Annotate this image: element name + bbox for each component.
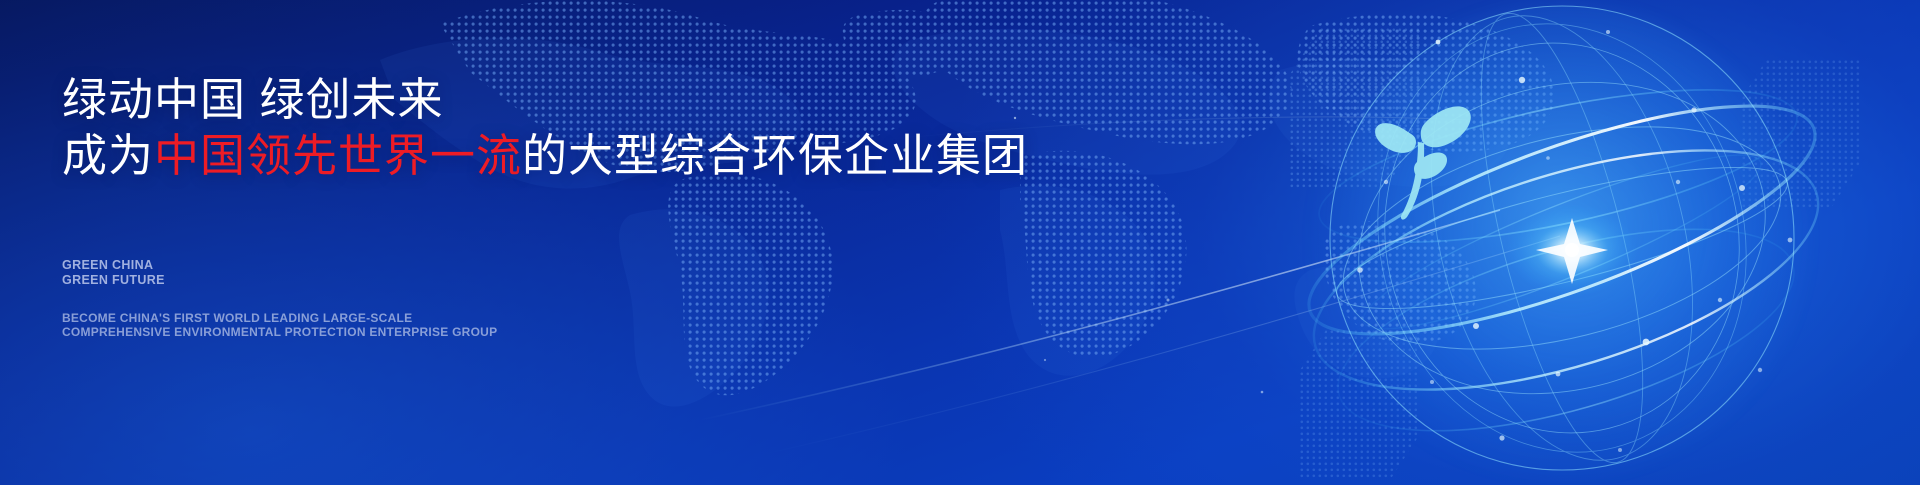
hex-dot-panel-top [1290,28,1420,188]
subtitle-line-2: COMPREHENSIVE ENVIRONMENTAL PROTECTION E… [62,325,497,339]
headline-accent-text: 中国领先世界一流 [154,130,522,181]
tagline-line-1: GREEN CHINA [62,258,165,273]
headline-line-2-pre: 成为 [62,130,154,181]
globe-glow [1310,0,1810,480]
subtitle-line-1: BECOME CHINA'S FIRST WORLD LEADING LARGE… [62,311,497,325]
tagline-en: GREEN CHINA GREEN FUTURE [62,258,165,288]
hex-dot-panel-right [1742,60,1862,210]
sprout-leaf-icon [1375,106,1471,219]
wireframe-globe [1290,0,1850,485]
world-map-silhouette [300,0,1550,470]
hex-dot-panel-bottom [1300,330,1420,480]
headline-line-2-post: 的大型综合环保企业集团 [522,130,1028,181]
headline-block: 绿动中国 绿创未来 成为中国领先世界一流的大型综合环保企业集团 [62,72,1062,184]
subtitle-en: BECOME CHINA'S FIRST WORLD LEADING LARGE… [62,311,497,339]
hero-banner: 绿动中国 绿创未来 成为中国领先世界一流的大型综合环保企业集团 GREEN CH… [0,0,1920,485]
headline-line-1: 绿动中国 绿创未来 [62,72,1062,128]
dotted-world-map [380,0,1560,400]
headline-line-2: 成为中国领先世界一流的大型综合环保企业集团 [62,128,1062,184]
tagline-line-2: GREEN FUTURE [62,273,165,288]
